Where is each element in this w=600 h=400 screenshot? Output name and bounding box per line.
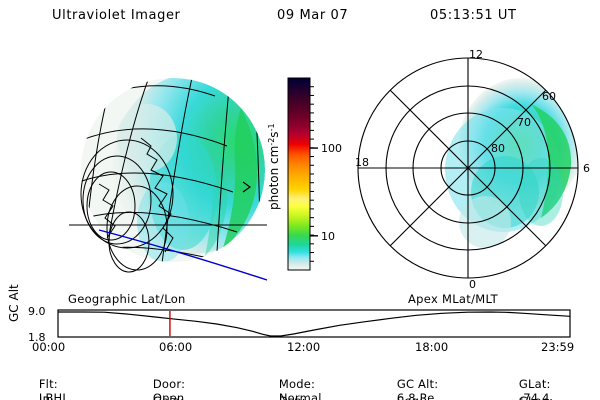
status-row: IP: 36.0 Gain: 14 Dsp: -6.6 Seq: 39 GLon…: [0, 380, 600, 397]
mlat-label-70: 70: [517, 116, 531, 129]
observation-date: 09 Mar 07: [277, 8, 348, 23]
status-seq-label: Seq:: [397, 394, 423, 400]
cb-title-main: photon cm: [267, 146, 281, 210]
orbit-xtick-2: 12:00: [287, 340, 320, 354]
uvi-display: Ultraviolet Imager 09 Mar 07 05:13:51 UT: [0, 0, 600, 400]
colorbar-panel: photon cm-2s-1 10010: [262, 60, 342, 295]
mlt-label-0: 0: [469, 278, 476, 291]
orbit-xtick-3: 18:00: [415, 340, 448, 354]
mlat-label-60: 60: [542, 90, 556, 103]
status-gain-label: Gain:: [153, 394, 184, 400]
mlt-label-18: 18: [355, 156, 369, 169]
orbit-xtick-4: 23:59: [541, 340, 574, 354]
status-dsp: Dsp: -6.6: [248, 380, 310, 400]
status-ip: IP: 36.0: [8, 380, 65, 400]
status-glon-label: GLon:: [519, 394, 553, 400]
orbit-plot-frame: [58, 310, 570, 337]
status-glon: GLon: 35.6: [488, 380, 553, 400]
status-dsp-label: Dsp:: [279, 394, 306, 400]
orbit-altitude-plot: GC Alt 9.0 1.8 00:00 06:00 12:00 18:00 2…: [0, 296, 600, 358]
cb-title-sup1: -2: [267, 138, 276, 146]
instrument-title: Ultraviolet Imager: [52, 8, 181, 23]
colorbar-axis-title: photon cm-2s-1: [267, 123, 282, 210]
mlat-label-80: 80: [491, 142, 505, 155]
geographic-image-panel: [55, 42, 270, 297]
orbit-y-axis-label: GC Alt: [7, 284, 21, 322]
orbit-xtick-1: 06:00: [159, 340, 192, 354]
status-gain: Gain: 14: [122, 380, 184, 400]
polar-dial-panel: 12 18 6 0 60 70 80: [335, 42, 600, 297]
observation-time: 05:13:51 UT: [430, 8, 517, 23]
colorbar-ticks: [310, 87, 318, 262]
status-block: Flt: LBHL Door: Open Mode: Normal GC Alt…: [0, 363, 600, 400]
colorbar-tick-10: 10: [321, 230, 335, 243]
mlt-label-12: 12: [469, 48, 483, 61]
orbit-xtick-0: 00:00: [32, 340, 65, 354]
orbit-ytick-0: 9.0: [28, 305, 46, 318]
status-seq: Seq: 39: [366, 380, 423, 400]
colorbar-gradient: [288, 78, 310, 270]
status-row: Flt: LBHL Door: Open Mode: Normal GC Alt…: [0, 363, 600, 380]
cb-title-sup2: -1: [267, 123, 276, 131]
orbit-altitude-trace: [58, 312, 570, 336]
mlt-label-6: 6: [583, 162, 590, 175]
status-ip-label: IP:: [39, 394, 54, 400]
